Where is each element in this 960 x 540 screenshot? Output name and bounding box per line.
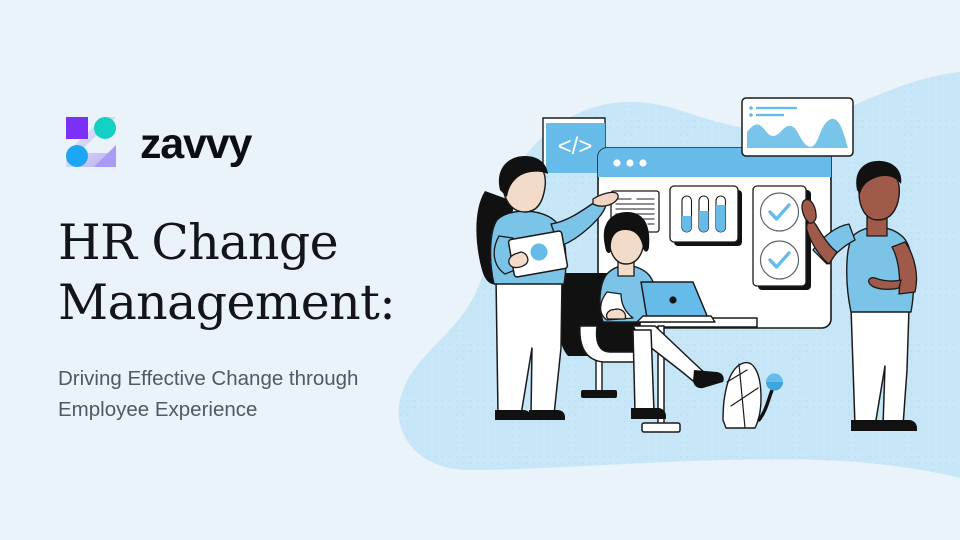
vertical-gauges-card-icon [670, 186, 742, 246]
potted-plant-icon [723, 363, 783, 428]
brand-name: zavvy [140, 123, 251, 166]
slide-canvas: zavvy HR Change Management: Driving Effe… [0, 0, 960, 540]
gauge-bar [716, 196, 726, 232]
page-subtitle: Driving Effective Change through Employe… [58, 363, 453, 427]
checkmark-circles-card-icon [753, 186, 811, 290]
page-subtitle-line-2: Employee Experience [58, 394, 453, 426]
brand-logo[interactable]: zavvy [58, 104, 458, 180]
page-title-line-2: Management: [58, 273, 458, 333]
check-circle-icon [761, 193, 799, 231]
window-dots [613, 159, 646, 166]
hero-text-column: zavvy HR Change Management: Driving Effe… [58, 104, 458, 426]
page-title-line-1: HR Change [58, 214, 338, 271]
zavvy-z-logo-icon [58, 109, 124, 175]
code-window-icon: </> [543, 118, 605, 173]
svg-text:</>: </> [558, 133, 593, 160]
check-circle-icon [761, 241, 799, 279]
gauge-bar [699, 196, 709, 232]
area-chart-card-icon [742, 98, 853, 156]
page-title: HR Change Management: [58, 213, 458, 333]
team-collaboration-illustration: </> [455, 60, 960, 490]
gauge-bar [682, 196, 692, 232]
page-subtitle-line-1: Driving Effective Change through [58, 367, 358, 390]
